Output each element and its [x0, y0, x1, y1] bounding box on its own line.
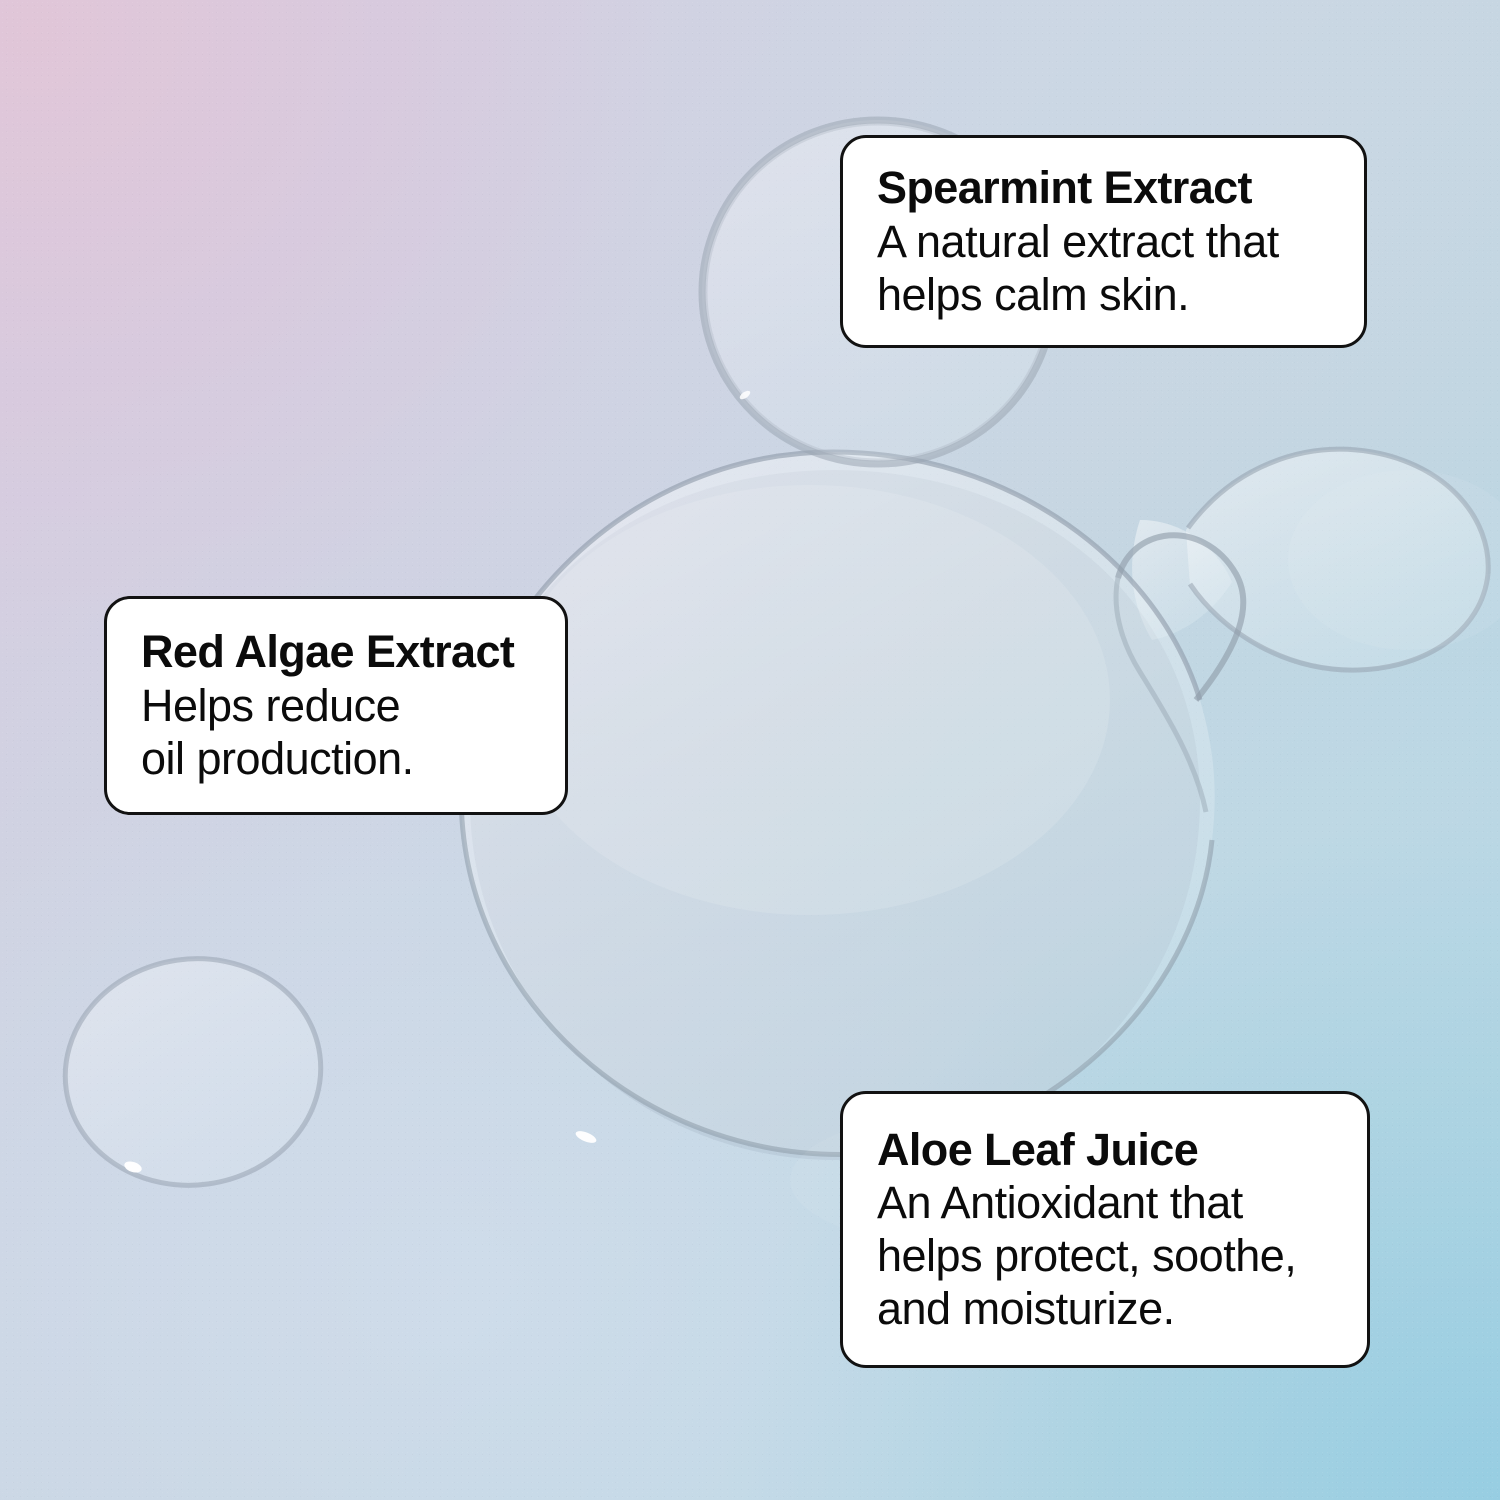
callout-title-aloe: Aloe Leaf Juice	[877, 1124, 1333, 1176]
callout-card-aloe[interactable]: Aloe Leaf Juice An Antioxidant that help…	[840, 1091, 1370, 1368]
callout-description-spearmint: A natural extract that helps calm skin.	[877, 215, 1330, 321]
callout-title-spearmint: Spearmint Extract	[877, 162, 1330, 214]
callout-description-aloe: An Antioxidant that helps protect, sooth…	[877, 1176, 1333, 1335]
callout-content-red-algae: Red Algae Extract Helps reduce oil produ…	[107, 626, 565, 784]
callout-card-spearmint[interactable]: Spearmint Extract A natural extract that…	[840, 135, 1367, 348]
callout-title-red-algae: Red Algae Extract	[141, 626, 531, 678]
callout-card-red-algae[interactable]: Red Algae Extract Helps reduce oil produ…	[104, 596, 568, 815]
callout-content-spearmint: Spearmint Extract A natural extract that…	[843, 162, 1364, 320]
callout-description-red-algae: Helps reduce oil production.	[141, 679, 531, 785]
callout-content-aloe: Aloe Leaf Juice An Antioxidant that help…	[843, 1124, 1367, 1335]
small-droplet-bottom-left	[51, 942, 336, 1201]
droplet-highlight	[574, 1129, 598, 1146]
ingredient-infographic: Spearmint Extract A natural extract that…	[0, 0, 1500, 1500]
